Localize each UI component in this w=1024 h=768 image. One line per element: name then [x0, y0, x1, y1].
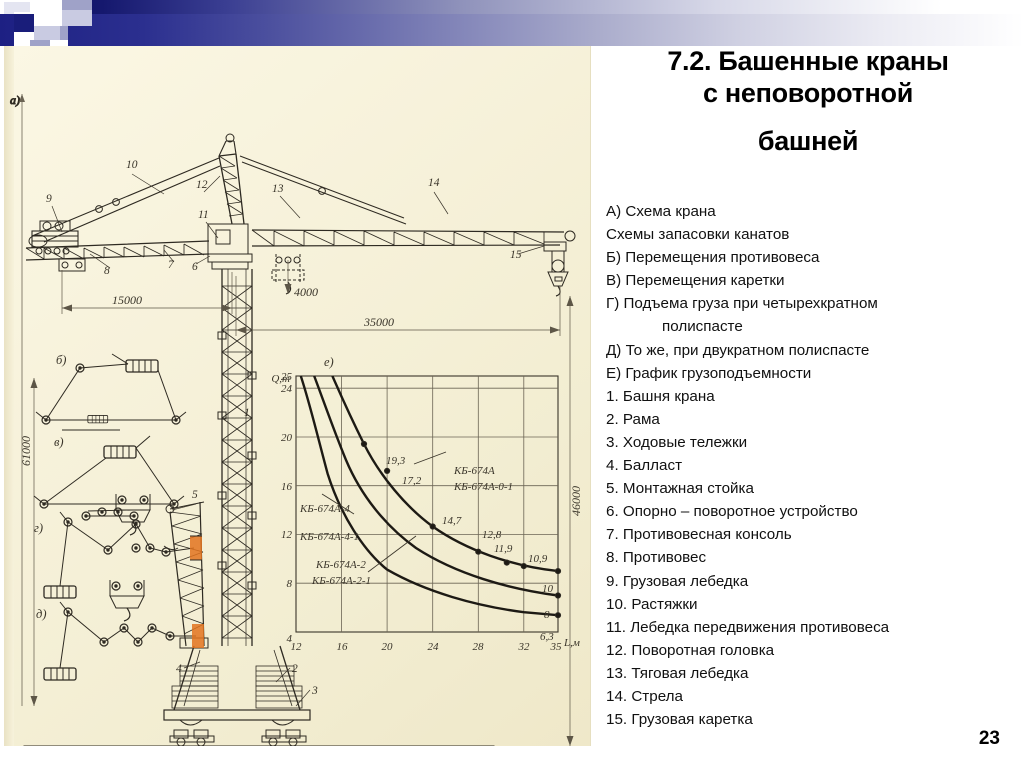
title-line-3: башней: [596, 126, 1020, 158]
callout-11: 11: [198, 209, 209, 221]
list-item: В) Перемещения каретки: [606, 269, 1022, 292]
list-item: 3. Ходовые тележки: [606, 431, 1022, 454]
callout-7: 7: [168, 259, 175, 271]
list-item: 7. Противовесная консоль: [606, 523, 1022, 546]
callout-3: 3: [311, 685, 318, 697]
callout-1: 1: [244, 407, 250, 419]
chart-legend-kb674a4: КБ-674А-4: [299, 503, 350, 515]
list-item: Б) Перемещения противовеса: [606, 246, 1022, 269]
list-item: 9. Грузовая лебедка: [606, 570, 1022, 593]
chart-legend-kb674a41: КБ-674А-4-1: [299, 531, 359, 543]
chart-xtick-16: 16: [337, 641, 349, 653]
panel-label-g: г): [34, 521, 43, 535]
chart-ytick-12: 12: [281, 529, 293, 541]
chart-ytick-8: 8: [287, 578, 293, 590]
title-line-1: 7.2. Башенные краны: [667, 46, 948, 76]
list-item: 6. Опорно – поворотное устройство: [606, 500, 1022, 523]
dimension-61000: 61000: [19, 436, 33, 466]
chart-ytick-16: 16: [281, 481, 293, 493]
list-item: Г) Подъема груза при четырехкратном: [606, 292, 1022, 315]
chart-annotation-12-8: 12,8: [482, 529, 502, 541]
svg-text:а): а): [10, 93, 20, 107]
list-item: А) Схема крана: [606, 200, 1022, 223]
chart-xtick-24: 24: [428, 641, 440, 653]
panel-label-d: д): [36, 607, 47, 621]
chart-xtick-28: 28: [473, 641, 485, 653]
callout-6: 6: [192, 261, 198, 273]
slide-header-banner: [0, 0, 1024, 46]
list-item: 13. Тяговая лебедка: [606, 662, 1022, 685]
chart-xlabel: L,м: [563, 637, 580, 649]
chart-legend-kb674a21: КБ-674А-2-1: [311, 575, 371, 587]
page-number: 23: [979, 728, 1000, 750]
crane-technical-drawing: а): [4, 46, 590, 746]
chart-ytick-25: 25: [281, 371, 293, 383]
chart-annotation-10: 10: [542, 583, 554, 595]
dimension-4000: 4000: [294, 285, 318, 299]
list-item: 10. Растяжки: [606, 593, 1022, 616]
chart-legend-kb674a: КБ-674А: [453, 465, 495, 477]
chart-ytick-20: 20: [281, 432, 293, 444]
chart-annotation-19-3: 19,3: [386, 455, 406, 467]
chart-legend-kb674a2: КБ-674А-2: [315, 559, 366, 571]
callout-15: 15: [510, 249, 522, 261]
chart-annotation-10-9: 10,9: [528, 553, 548, 565]
callout-13: 13: [272, 183, 284, 195]
list-item: 1. Башня крана: [606, 385, 1022, 408]
scanned-drawing-page: а): [4, 46, 591, 746]
dimension-35000: 35000: [363, 315, 394, 329]
page-title: 7.2. Башенные краны с неповоротной башне…: [596, 46, 1020, 158]
list-item: 8. Противовес: [606, 546, 1022, 569]
list-item: 15. Грузовая каретка: [606, 708, 1022, 731]
legend-list: А) Схема крана Схемы запасовки канатов Б…: [606, 200, 1022, 731]
list-item: Е) График грузоподъемности: [606, 362, 1022, 385]
list-item: Схемы запасовки канатов: [606, 223, 1022, 246]
banner-lower-gradient: [0, 14, 1024, 46]
callout-4: 4: [176, 663, 182, 675]
list-item: 14. Стрела: [606, 685, 1022, 708]
list-item: 4. Балласт: [606, 454, 1022, 477]
list-item: Д) То же, при двукратном полиспасте: [606, 339, 1022, 362]
banner-square-4: [62, 10, 92, 26]
chart-legend-kb674a01: КБ-674А-0-1: [453, 481, 513, 493]
panel-label-b: б): [56, 353, 66, 367]
callout-2: 2: [292, 663, 298, 675]
chart-annotation-11-9: 11,9: [494, 543, 513, 555]
dimension-15000: 15000: [112, 293, 142, 307]
list-item: 2. Рама: [606, 408, 1022, 431]
list-item: 5. Монтажная стойка: [606, 477, 1022, 500]
chart-annotation-14-7: 14,7: [442, 515, 462, 527]
panel-label-v: в): [54, 435, 64, 449]
list-item: полиспасте: [606, 315, 1022, 338]
callout-12: 12: [196, 179, 208, 191]
callout-5: 5: [192, 489, 198, 501]
chart-ytick-24: 24: [281, 383, 293, 395]
callout-10: 10: [126, 159, 138, 171]
banner-square-6: [14, 14, 34, 32]
chart-xtick-12: 12: [291, 641, 303, 653]
list-item: 12. Поворотная головка: [606, 639, 1022, 662]
banner-square-3: [62, 0, 92, 10]
list-item: 11. Лебедка передвижения противовеса: [606, 616, 1022, 639]
chart-annotation-8: 8: [544, 609, 550, 621]
chart-annotation-17-2: 17,2: [402, 475, 422, 487]
callout-14: 14: [428, 177, 440, 189]
dimension-46000: 46000: [569, 486, 583, 516]
chart-xtick-32: 32: [518, 641, 531, 653]
panel-label-e: е): [324, 355, 334, 369]
chart-xtick-20: 20: [382, 641, 394, 653]
chart-annotation-6-3: 6,3: [540, 631, 554, 643]
callout-9: 9: [46, 193, 52, 205]
callout-8: 8: [104, 265, 110, 277]
title-line-2: с неповоротной: [703, 78, 913, 108]
